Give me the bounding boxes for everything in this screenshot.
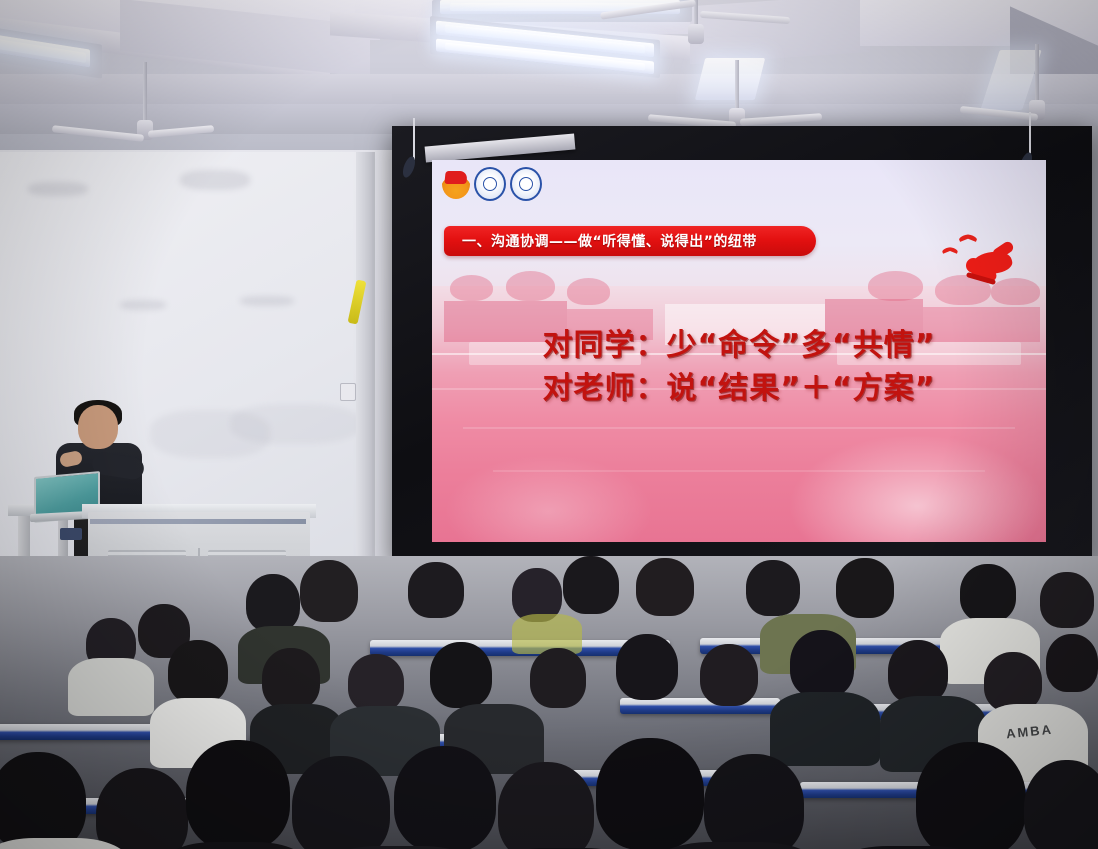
hanging-cable-right [1029,112,1031,156]
audience-head [262,648,320,710]
audience-head [636,558,694,616]
wall-switch[interactable] [340,383,356,401]
audience-head [348,654,404,712]
slide-headline-line-1: 对同学：少“命令”多“共情” [432,325,1046,368]
audience-head [186,740,290,849]
audience-head [1046,634,1098,692]
podium-stripe [90,519,306,524]
bird-icon [942,248,958,257]
audience-head [96,768,188,849]
school-emblem-blue-2 [510,167,542,201]
audience: AMBA NN [0,556,1098,849]
audience-head [246,574,300,632]
audience-head [0,752,86,849]
audience-head [888,640,948,704]
slide-section-banner-text: 一、沟通协调——做“听得懂、说得出”的纽带 [444,231,757,251]
slide-section-banner: 一、沟通协调——做“听得懂、说得出”的纽带 [444,226,816,256]
audience-head [790,630,854,698]
audience-head [960,564,1016,622]
audience-head [704,754,804,849]
communist-youth-league-emblem [442,169,470,199]
audience-body [512,614,582,654]
audience-head [984,652,1042,712]
audience-head [530,648,586,708]
audience-head [1040,572,1094,628]
slide-emblems [442,167,542,201]
ceiling-light-5 [695,58,765,100]
audience-head [168,640,228,704]
audience-body [68,658,154,716]
desk-row [620,698,780,714]
audience-head [616,634,678,700]
audience-head [563,556,619,614]
slide-headline: 对同学：少“命令”多“共情” 对老师：说“结果”＋“方案” [432,325,1046,410]
skater-silhouette-icon [962,244,1028,288]
audience-head [394,746,496,849]
audience-head [300,560,358,622]
audience-head [746,560,800,616]
presenter-head [78,405,118,449]
fan-hub-2 [688,24,704,44]
lecture-hall-photo: 一、沟通协调——做“听得懂、说得出”的纽带 对同学：少“命令”多“共情” 对老师… [0,0,1098,849]
hanging-cable-left [413,118,415,160]
audience-head [430,642,492,708]
red-skater-mascot [940,228,1032,304]
audience-head [836,558,894,618]
fan-pole-1 [143,62,147,124]
fan-pole-3 [735,60,739,112]
audience-body [770,692,880,766]
slide-headline-line-2: 对老师：说“结果”＋“方案” [432,368,1046,411]
fan-pole-4 [1035,44,1039,106]
audience-head [292,756,390,849]
whiteboard-rail [356,152,372,582]
audience-head [700,644,758,706]
power-adapter [60,528,82,540]
school-emblem-blue-1 [474,167,506,201]
audience-head [596,738,704,849]
audience-head [408,562,464,618]
audience-head [916,742,1026,849]
projection-screen: 一、沟通协调——做“听得懂、说得出”的纽带 对同学：少“命令”多“共情” 对老师… [432,160,1046,542]
audience-head [498,762,594,849]
audience-head [1024,760,1098,849]
